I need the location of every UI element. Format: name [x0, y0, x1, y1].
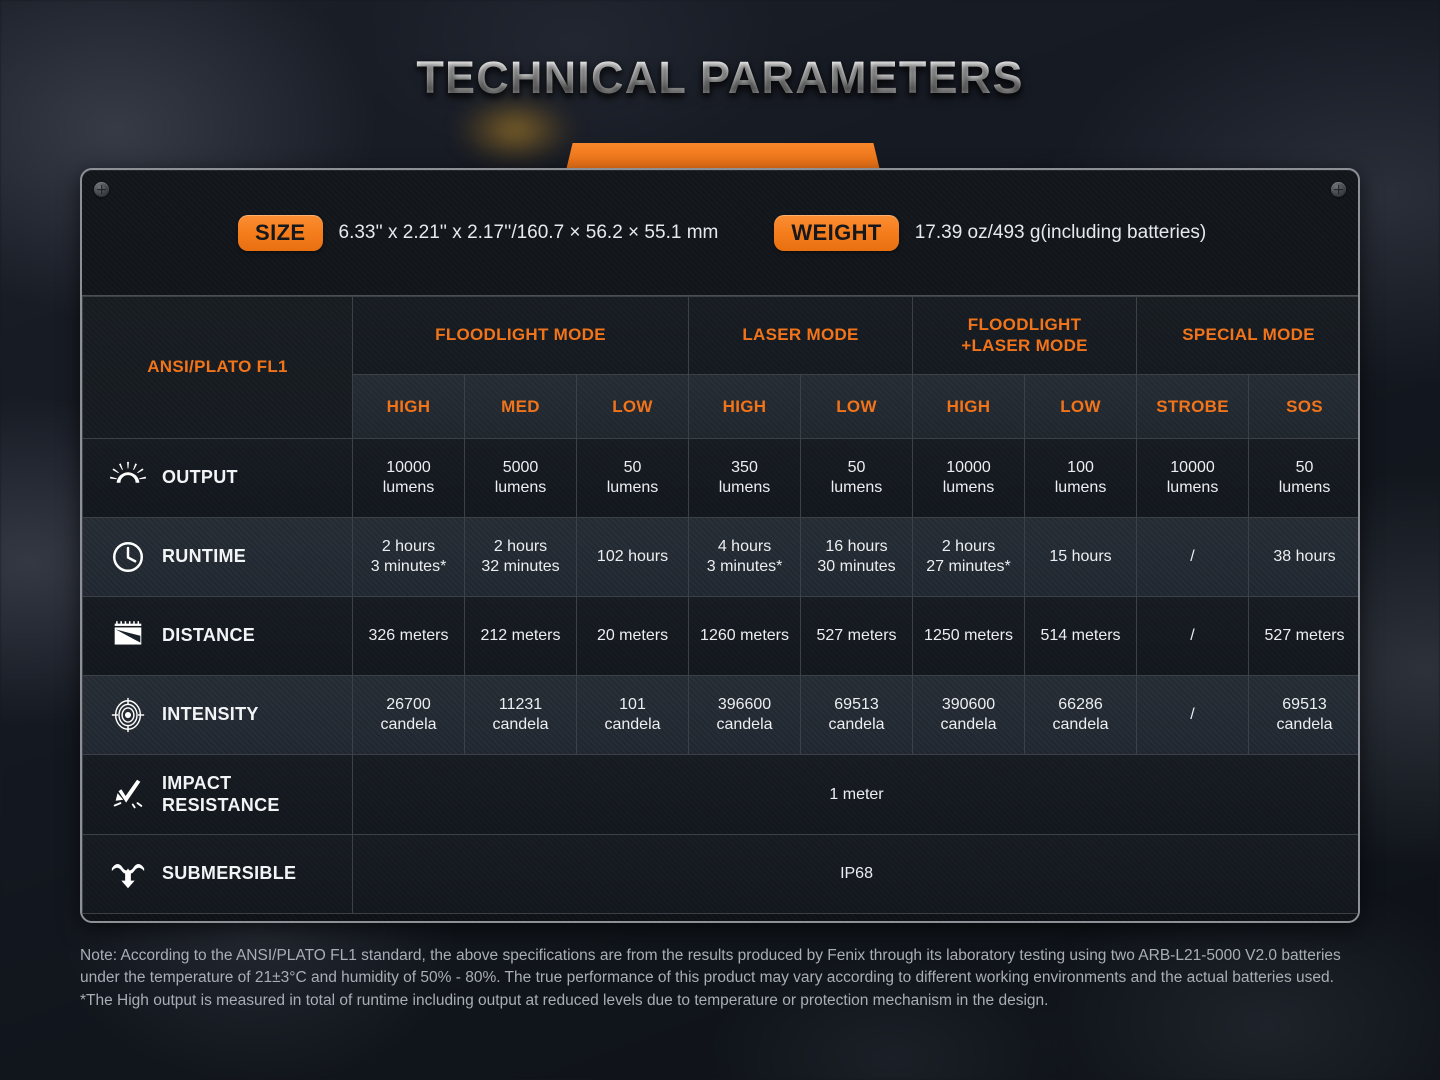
cell-line1: 5000: [465, 458, 576, 478]
cell-line2: lumens: [465, 478, 576, 498]
cell-line2: lumens: [1025, 478, 1136, 498]
cell-line1: 26700: [353, 695, 464, 715]
cell-runtime-8: 38 hours: [1249, 518, 1360, 597]
level-header-4: LOW: [801, 375, 913, 439]
specifications-table: ANSI/PLATO FL1 FLOODLIGHT MODE LASER MOD…: [82, 296, 1360, 914]
table-row: SUBMERSIBLE IP68: [83, 835, 1361, 914]
level-header-5: HIGH: [913, 375, 1025, 439]
level-header-1: MED: [465, 375, 577, 439]
cell-line2: candela: [689, 715, 800, 735]
cell-runtime-0: 2 hours3 minutes*: [353, 518, 465, 597]
cell-line1: 100: [1025, 458, 1136, 478]
impact-resistance-icon: [109, 776, 147, 814]
row-label-output: OUTPUT: [162, 467, 238, 488]
mode-group-floodlight: FLOODLIGHT MODE: [353, 297, 689, 375]
level-header-7: STROBE: [1137, 375, 1249, 439]
cell-runtime-2: 102 hours: [577, 518, 689, 597]
cell-line1: 10000: [353, 458, 464, 478]
cell-output-1: 5000lumens: [465, 439, 577, 518]
cell-intensity-4: 69513candela: [801, 676, 913, 755]
level-header-2: LOW: [577, 375, 689, 439]
cell-intensity-3: 396600candela: [689, 676, 801, 755]
cell-submersible-value: IP68: [353, 835, 1361, 914]
cell-distance-2: 20 meters: [577, 597, 689, 676]
cell-line1: 16 hours: [801, 537, 912, 557]
mode-group-floodlight-laser-line1: FLOODLIGHT: [913, 315, 1136, 336]
size-value: 6.33'' x 2.21'' x 2.17''/160.7 × 56.2 × …: [339, 222, 719, 244]
row-label-cell-submersible: SUBMERSIBLE: [83, 835, 353, 914]
sunburst-icon: [109, 459, 147, 497]
cell-line2: 32 minutes: [465, 557, 576, 577]
cell-line2: candela: [913, 715, 1024, 735]
cell-output-2: 50lumens: [577, 439, 689, 518]
cell-line2: 30 minutes: [801, 557, 912, 577]
cell-runtime-3: 4 hours3 minutes*: [689, 518, 801, 597]
cell-distance-7: /: [1137, 597, 1249, 676]
row-label-impact-line1: IMPACT: [162, 773, 231, 793]
cell-intensity-0: 26700candela: [353, 676, 465, 755]
row-label-submersible: SUBMERSIBLE: [162, 863, 296, 884]
cell-line1: 390600: [913, 695, 1024, 715]
level-header-8: SOS: [1249, 375, 1360, 439]
cell-distance-5: 1250 meters: [913, 597, 1025, 676]
weight-badge: WEIGHT: [774, 215, 898, 251]
cell-intensity-2: 101candela: [577, 676, 689, 755]
cell-line2: 3 minutes*: [353, 557, 464, 577]
background-glow: [455, 95, 575, 165]
clock-icon: [109, 538, 147, 576]
cell-line2: candela: [465, 715, 576, 735]
target-icon: [109, 696, 147, 734]
cell-line1: 10000: [1137, 458, 1248, 478]
cell-runtime-4: 16 hours30 minutes: [801, 518, 913, 597]
ansi-standard-label: ANSI/PLATO FL1: [83, 297, 353, 439]
row-label-cell-impact: IMPACT RESISTANCE: [83, 755, 353, 835]
footnote-line-1: Note: According to the ANSI/PLATO FL1 st…: [80, 945, 1365, 990]
cell-line1: 50: [801, 458, 912, 478]
cell-line1: 396600: [689, 695, 800, 715]
row-label-cell-distance: DISTANCE: [83, 597, 353, 676]
cell-runtime-6: 15 hours: [1025, 518, 1137, 597]
cell-runtime-7: /: [1137, 518, 1249, 597]
row-label-distance: DISTANCE: [162, 625, 255, 646]
level-header-6: LOW: [1025, 375, 1137, 439]
cell-line2: lumens: [689, 478, 800, 498]
cell-distance-1: 212 meters: [465, 597, 577, 676]
row-label-intensity: INTENSITY: [162, 704, 259, 725]
mode-group-floodlight-laser-line2: +LASER MODE: [913, 336, 1136, 357]
table-row: OUTPUT 10000lumens 5000lumens 50lumens 3…: [83, 439, 1361, 518]
cell-distance-3: 1260 meters: [689, 597, 801, 676]
cell-line1: 11231: [465, 695, 576, 715]
table-row: INTENSITY 26700candela 11231candela 101c…: [83, 676, 1361, 755]
cell-line2: candela: [1249, 715, 1360, 735]
cell-line1: 350: [689, 458, 800, 478]
table-row: IMPACT RESISTANCE 1 meter: [83, 755, 1361, 835]
footnote-line-2: *The High output is measured in total of…: [80, 990, 1365, 1012]
footnote: Note: According to the ANSI/PLATO FL1 st…: [80, 945, 1365, 1012]
cell-intensity-8: 69513candela: [1249, 676, 1360, 755]
cell-output-3: 350lumens: [689, 439, 801, 518]
cell-line1: 66286: [1025, 695, 1136, 715]
cell-impact-value: 1 meter: [353, 755, 1361, 835]
cell-line2: lumens: [1249, 478, 1360, 498]
specs-panel: SIZE 6.33'' x 2.21'' x 2.17''/160.7 × 56…: [80, 168, 1360, 923]
cell-line2: lumens: [801, 478, 912, 498]
mode-group-laser: LASER MODE: [689, 297, 913, 375]
cell-intensity-1: 11231candela: [465, 676, 577, 755]
row-label-impact: IMPACT RESISTANCE: [162, 773, 280, 815]
cell-distance-0: 326 meters: [353, 597, 465, 676]
cell-line2: lumens: [913, 478, 1024, 498]
cell-distance-4: 527 meters: [801, 597, 913, 676]
cell-line1: 2 hours: [353, 537, 464, 557]
row-label-impact-line2: RESISTANCE: [162, 795, 280, 815]
cell-output-0: 10000lumens: [353, 439, 465, 518]
level-header-0: HIGH: [353, 375, 465, 439]
cell-line1: 50: [577, 458, 688, 478]
cell-line2: lumens: [1137, 478, 1248, 498]
beam-distance-icon: [109, 617, 147, 655]
cell-output-4: 50lumens: [801, 439, 913, 518]
cell-line2: candela: [801, 715, 912, 735]
cell-line1: 4 hours: [689, 537, 800, 557]
cell-line1: 69513: [801, 695, 912, 715]
mode-group-special: SPECIAL MODE: [1137, 297, 1360, 375]
cell-output-7: 10000lumens: [1137, 439, 1249, 518]
row-label-runtime: RUNTIME: [162, 546, 246, 567]
size-weight-strip: SIZE 6.33'' x 2.21'' x 2.17''/160.7 × 56…: [82, 170, 1358, 296]
cell-line2: candela: [353, 715, 464, 735]
cell-line2: 27 minutes*: [913, 557, 1024, 577]
cell-line2: candela: [1025, 715, 1136, 735]
cell-runtime-5: 2 hours27 minutes*: [913, 518, 1025, 597]
mode-group-header-row: ANSI/PLATO FL1 FLOODLIGHT MODE LASER MOD…: [83, 297, 1361, 375]
cell-output-6: 100lumens: [1025, 439, 1137, 518]
cell-line1: 50: [1249, 458, 1360, 478]
level-header-3: HIGH: [689, 375, 801, 439]
cell-intensity-5: 390600candela: [913, 676, 1025, 755]
cell-intensity-7: /: [1137, 676, 1249, 755]
mode-group-floodlight-laser: FLOODLIGHT +LASER MODE: [913, 297, 1137, 375]
weight-value: 17.39 oz/493 g(including batteries): [915, 222, 1207, 244]
cell-output-5: 10000lumens: [913, 439, 1025, 518]
cell-line1: 2 hours: [465, 537, 576, 557]
cell-line2: lumens: [353, 478, 464, 498]
submersible-icon: [109, 855, 147, 893]
cell-distance-6: 514 meters: [1025, 597, 1137, 676]
cell-intensity-6: 66286candela: [1025, 676, 1137, 755]
row-label-cell-output: OUTPUT: [83, 439, 353, 518]
cell-line2: candela: [577, 715, 688, 735]
table-row: RUNTIME 2 hours3 minutes* 2 hours32 minu…: [83, 518, 1361, 597]
cell-line1: 2 hours: [913, 537, 1024, 557]
cell-line1: 101: [577, 695, 688, 715]
cell-line1: 69513: [1249, 695, 1360, 715]
cell-runtime-1: 2 hours32 minutes: [465, 518, 577, 597]
cell-output-8: 50lumens: [1249, 439, 1360, 518]
table-row: DISTANCE 326 meters 212 meters 20 meters…: [83, 597, 1361, 676]
cell-distance-8: 527 meters: [1249, 597, 1360, 676]
size-badge: SIZE: [238, 215, 323, 251]
row-label-cell-runtime: RUNTIME: [83, 518, 353, 597]
page-title: TECHNICAL PARAMETERS: [0, 52, 1440, 104]
cell-line1: 10000: [913, 458, 1024, 478]
row-label-cell-intensity: INTENSITY: [83, 676, 353, 755]
cell-line2: lumens: [577, 478, 688, 498]
cell-line2: 3 minutes*: [689, 557, 800, 577]
